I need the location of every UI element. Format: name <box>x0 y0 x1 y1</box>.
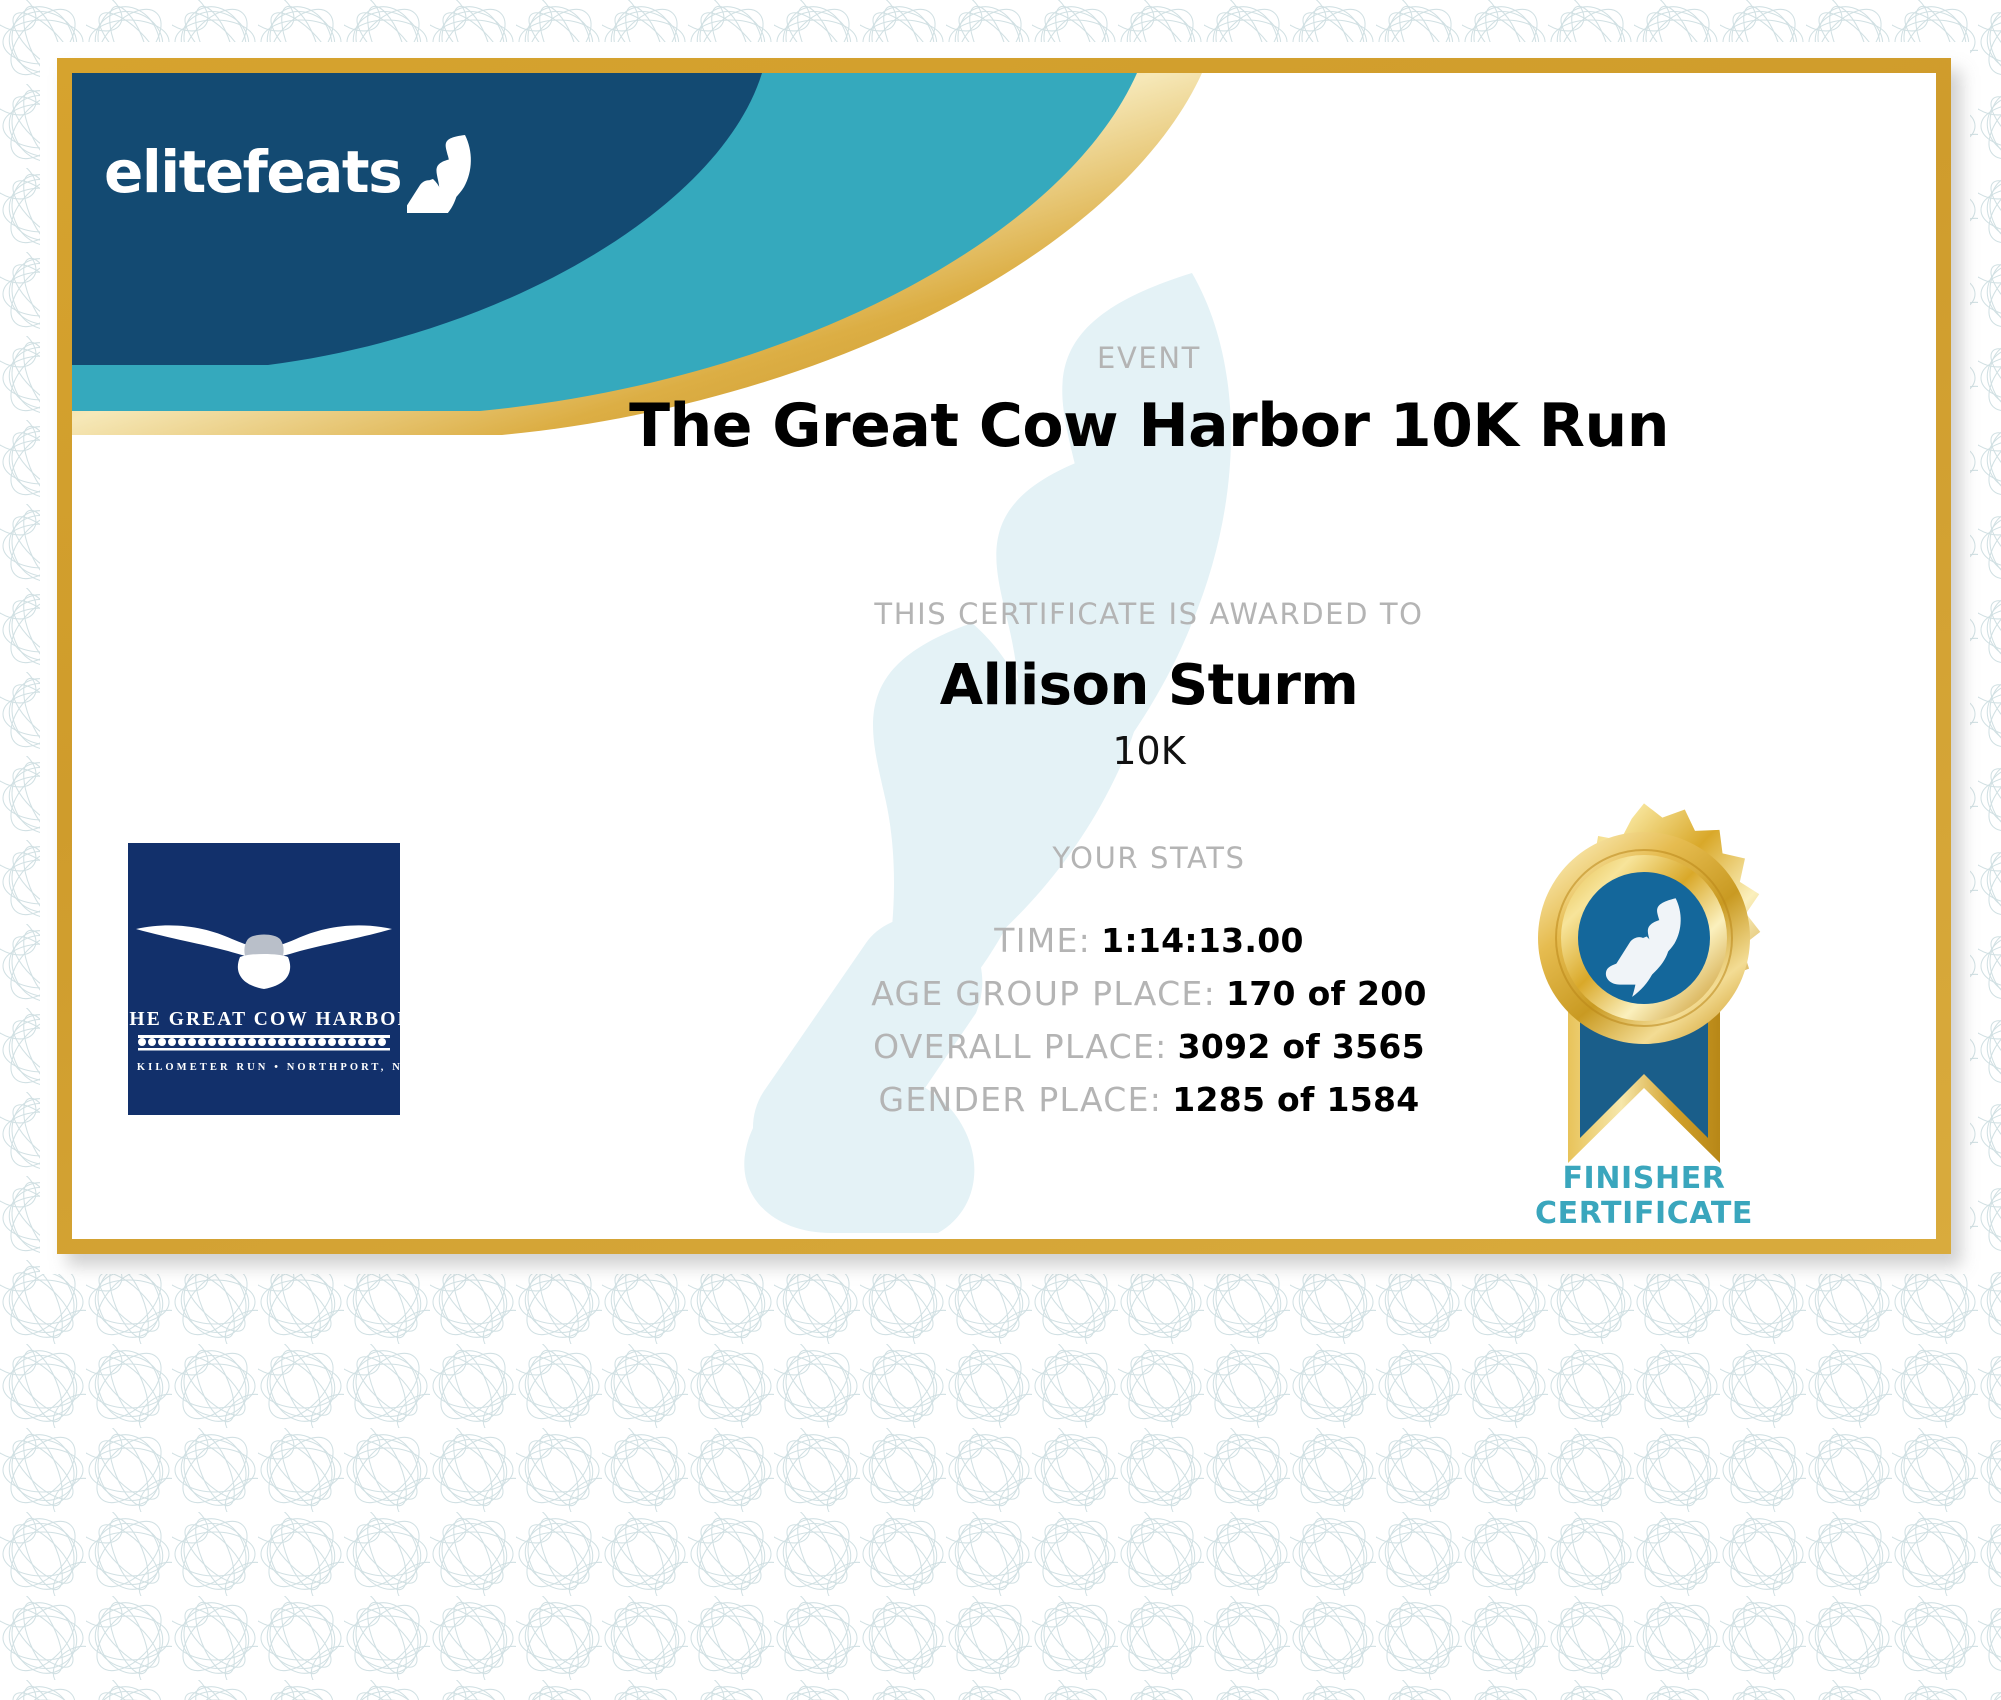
stat-value: 1285 of 1584 <box>1172 1080 1419 1119</box>
awarded-to-label: THIS CERTIFICATE IS AWARDED TO <box>72 597 1936 631</box>
stat-value: 1:14:13.00 <box>1101 921 1304 960</box>
event-label: EVENT <box>72 341 1936 375</box>
recipient-name: Allison Sturm <box>72 653 1936 718</box>
winged-foot-icon <box>407 131 485 213</box>
svg-text:10 KILOMETER RUN • NORTHPORT: 10 KILOMETER RUN • NORTHPORT, NY <box>128 1062 400 1073</box>
elitefeats-logo: elitefeats <box>104 131 485 213</box>
certificate-body: elitefeats EVENT The Great Cow Harbor 10… <box>72 73 1936 1239</box>
svg-text:THE GREAT COW HARBOR: THE GREAT COW HARBOR <box>128 1009 400 1030</box>
finisher-medal-badge: 2023 <box>1504 788 1784 1188</box>
race-logo-tile: THE GREAT COW HARBOR <box>128 843 400 1115</box>
stat-value: 3092 of 3565 <box>1178 1027 1425 1066</box>
event-title: The Great Cow Harbor 10K Run <box>72 391 1936 461</box>
stat-key: TIME: <box>994 921 1091 960</box>
certificate-page: elitefeats EVENT The Great Cow Harbor 10… <box>0 0 2001 1700</box>
finisher-caption-line2: CERTIFICATE <box>1474 1196 1814 1231</box>
stat-key: AGE GROUP PLACE: <box>871 974 1216 1013</box>
stat-key: OVERALL PLACE: <box>873 1027 1168 1066</box>
stat-value: 170 of 200 <box>1226 974 1427 1013</box>
stat-key: GENDER PLACE: <box>878 1080 1162 1119</box>
elitefeats-wordmark-text: elitefeats <box>104 138 401 206</box>
finisher-caption: FINISHER CERTIFICATE <box>1474 1161 1814 1232</box>
finisher-caption-line1: FINISHER <box>1474 1161 1814 1196</box>
recipient-division: 10K <box>72 729 1936 773</box>
